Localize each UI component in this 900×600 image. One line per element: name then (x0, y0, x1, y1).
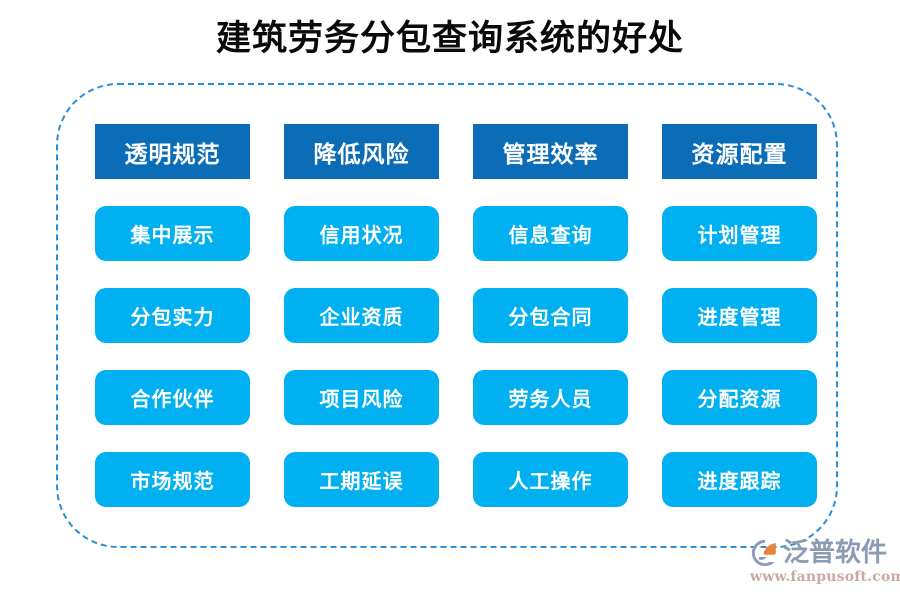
brand-url: www.fanpusoft.com (750, 569, 890, 585)
grid-item[interactable]: 人工操作 (473, 452, 628, 507)
grid-item[interactable]: 计划管理 (662, 206, 817, 261)
grid-item[interactable]: 工期延误 (284, 452, 439, 507)
grid-item[interactable]: 集中展示 (95, 206, 250, 261)
grid-item[interactable]: 分包合同 (473, 288, 628, 343)
grid-item[interactable]: 企业资质 (284, 288, 439, 343)
column-header-transparency[interactable]: 透明规范 (95, 124, 250, 179)
grid-item[interactable]: 市场规范 (95, 452, 250, 507)
page-title: 建筑劳务分包查询系统的好处 (0, 16, 900, 62)
column-header-management-efficiency[interactable]: 管理效率 (473, 124, 628, 179)
brand-watermark: 泛普软件 www.fanpusoft.com (750, 536, 890, 588)
brand-name: 泛普软件 (783, 538, 887, 568)
fanpu-swoosh-logo-icon (750, 538, 780, 568)
grid-item[interactable]: 进度跟踪 (662, 452, 817, 507)
grid-item[interactable]: 进度管理 (662, 288, 817, 343)
column-header-risk-reduction[interactable]: 降低风险 (284, 124, 439, 179)
grid-item[interactable]: 分配资源 (662, 370, 817, 425)
brand-row: 泛普软件 (750, 536, 890, 570)
grid-item[interactable]: 信用状况 (284, 206, 439, 261)
benefits-grid: 透明规范 降低风险 管理效率 资源配置 集中展示 信用状况 信息查询 计划管理 … (95, 124, 818, 508)
column-header-resource-allocation[interactable]: 资源配置 (662, 124, 817, 179)
grid-item[interactable]: 合作伙伴 (95, 370, 250, 425)
grid-item[interactable]: 信息查询 (473, 206, 628, 261)
grid-item[interactable]: 项目风险 (284, 370, 439, 425)
grid-item[interactable]: 劳务人员 (473, 370, 628, 425)
grid-item[interactable]: 分包实力 (95, 288, 250, 343)
